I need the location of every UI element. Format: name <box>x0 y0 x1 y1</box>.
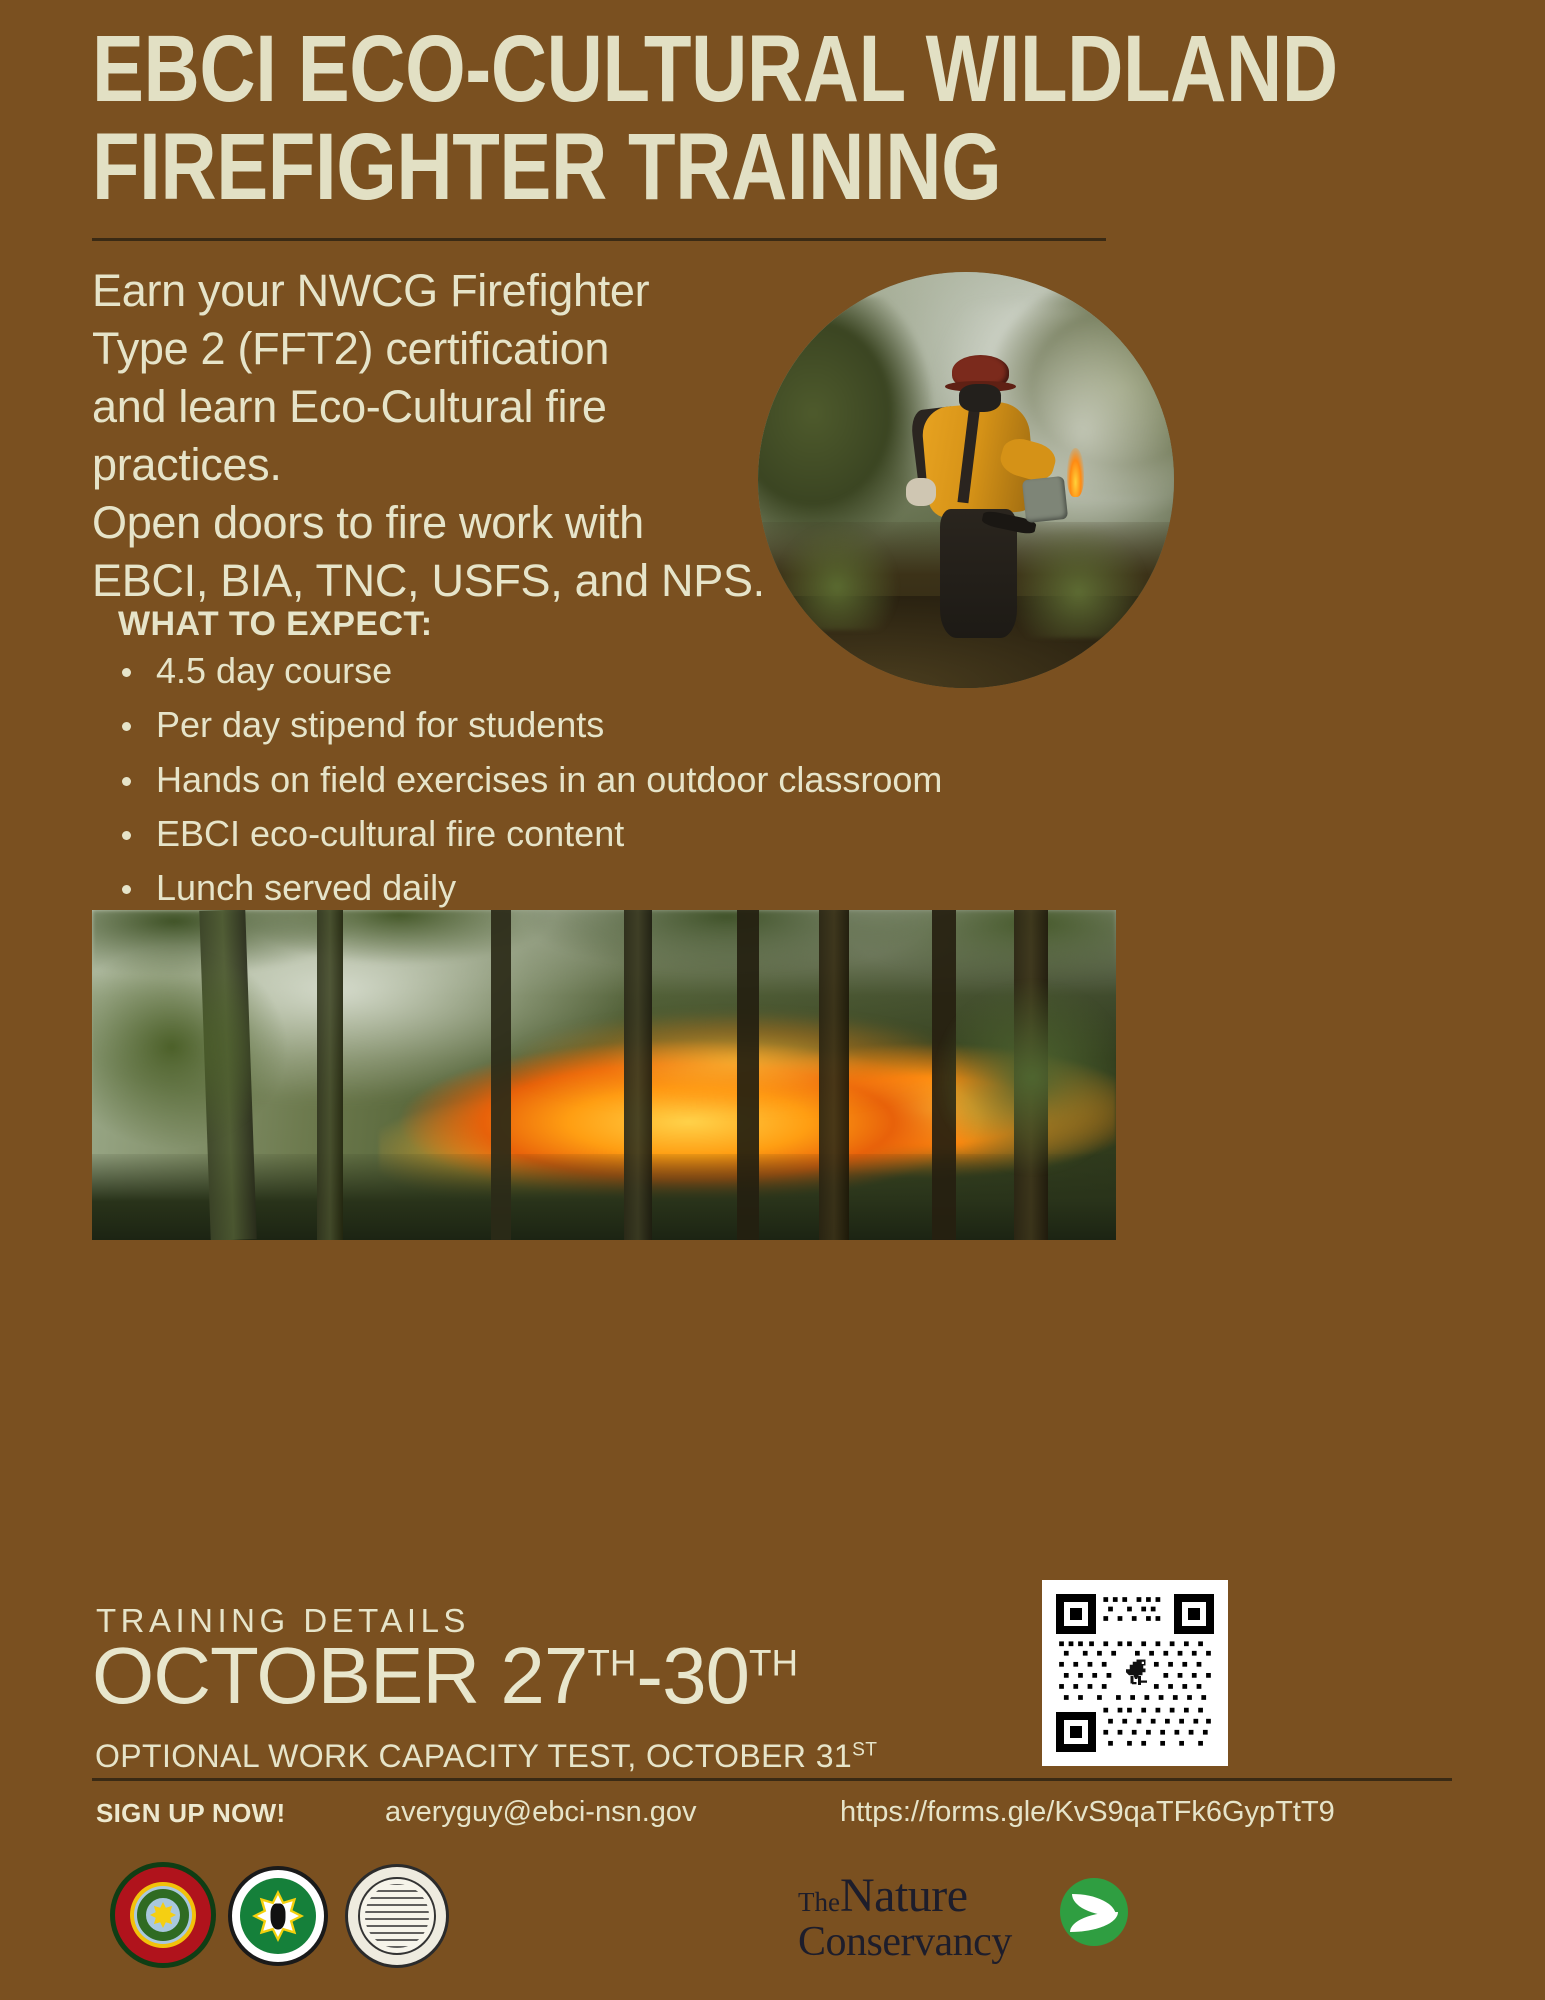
tnc-conservancy: Conservancy <box>798 1921 1012 1963</box>
title-line-2: FIREFIGHTER TRAINING <box>92 122 1207 212</box>
contact-email[interactable]: averyguy@ebci-nsn.gov <box>385 1796 697 1829</box>
date-ordinal-1: TH <box>587 1642 636 1683</box>
firefighter-figure <box>883 355 1074 663</box>
sign-up-cta: SIGN UP NOW! <box>96 1798 285 1829</box>
intro-line-3: and learn Eco-Cultural fire <box>92 378 792 436</box>
tnc-nature: Nature <box>840 1869 968 1922</box>
title-line-1: EBCI ECO-CULTURAL WILDLAND <box>92 24 1207 114</box>
bia-cherokee-agency-fire-logo <box>228 1866 328 1966</box>
photo-shrub-left <box>775 522 900 630</box>
date-range-end: -30 <box>636 1631 749 1720</box>
natural-resources-seal-logo <box>345 1864 449 1968</box>
registration-form-link[interactable]: https://forms.gle/KvS9qaTFk6GypTtT9 <box>840 1796 1335 1829</box>
firefighter-glove <box>906 478 937 506</box>
list-item: 4.5 day course <box>108 648 1108 693</box>
poster-root: EBCI ECO-CULTURAL WILDLAND FIREFIGHTER T… <box>0 0 1545 2000</box>
list-item: EBCI eco-cultural fire content <box>108 811 1108 856</box>
prescribed-fire-photo <box>92 910 1116 1240</box>
date-ordinal-2: TH <box>749 1642 798 1683</box>
tree-trunk <box>491 910 511 1240</box>
firefighter-photo <box>758 272 1174 688</box>
expect-heading: WHAT TO EXPECT: <box>118 605 433 644</box>
page-title: EBCI ECO-CULTURAL WILDLAND FIREFIGHTER T… <box>92 24 1452 213</box>
tree-trunk <box>624 910 652 1240</box>
list-item: Hands on field exercises in an outdoor c… <box>108 757 1108 802</box>
dinosaur-icon <box>1118 1658 1152 1688</box>
list-item: Per day stipend for students <box>108 702 1108 747</box>
wct-text: OPTIONAL WORK CAPACITY TEST, OCTOBER 31 <box>95 1738 852 1774</box>
date-main: OCTOBER 27 <box>92 1631 587 1720</box>
wide-photo-leaves-right <box>870 956 1116 1220</box>
intro-line-6: EBCI, BIA, TNC, USFS, and NPS. <box>92 552 792 610</box>
intro-paragraphs: Earn your NWCG Firefighter Type 2 (FFT2)… <box>92 262 792 610</box>
tree-trunk <box>737 910 759 1240</box>
work-capacity-test-line: OPTIONAL WORK CAPACITY TEST, OCTOBER 31S… <box>95 1738 877 1775</box>
ebci-great-seal-logo <box>110 1862 216 1968</box>
wct-ordinal: ST <box>852 1739 877 1760</box>
list-item: Lunch served daily <box>108 865 1108 910</box>
intro-line-4: practices. <box>92 436 792 494</box>
tree-trunk <box>819 910 849 1240</box>
divider-top <box>92 238 1106 241</box>
qr-code[interactable] <box>1042 1580 1228 1766</box>
tnc-the: The <box>798 1887 840 1917</box>
divider-bottom <box>92 1778 1452 1781</box>
intro-line-5: Open doors to fire work with <box>92 494 792 552</box>
drip-torch-icon <box>1022 476 1068 523</box>
tnc-globe-icon <box>1060 1878 1128 1946</box>
qr-finder-top-left <box>1056 1594 1096 1634</box>
intro-line-2: Type 2 (FFT2) certification <box>92 320 792 378</box>
wide-photo-leaves-left <box>92 936 358 1213</box>
training-dates: OCTOBER 27TH-30TH <box>92 1634 798 1718</box>
flame-icon <box>1067 448 1084 497</box>
intro-line-1: Earn your NWCG Firefighter <box>92 262 792 320</box>
qr-finder-top-right <box>1174 1594 1214 1634</box>
nature-conservancy-logo: TheNature Conservancy <box>798 1872 1128 1960</box>
firefighter-face-shroud <box>959 384 1001 412</box>
qr-finder-bottom-left <box>1056 1712 1096 1752</box>
